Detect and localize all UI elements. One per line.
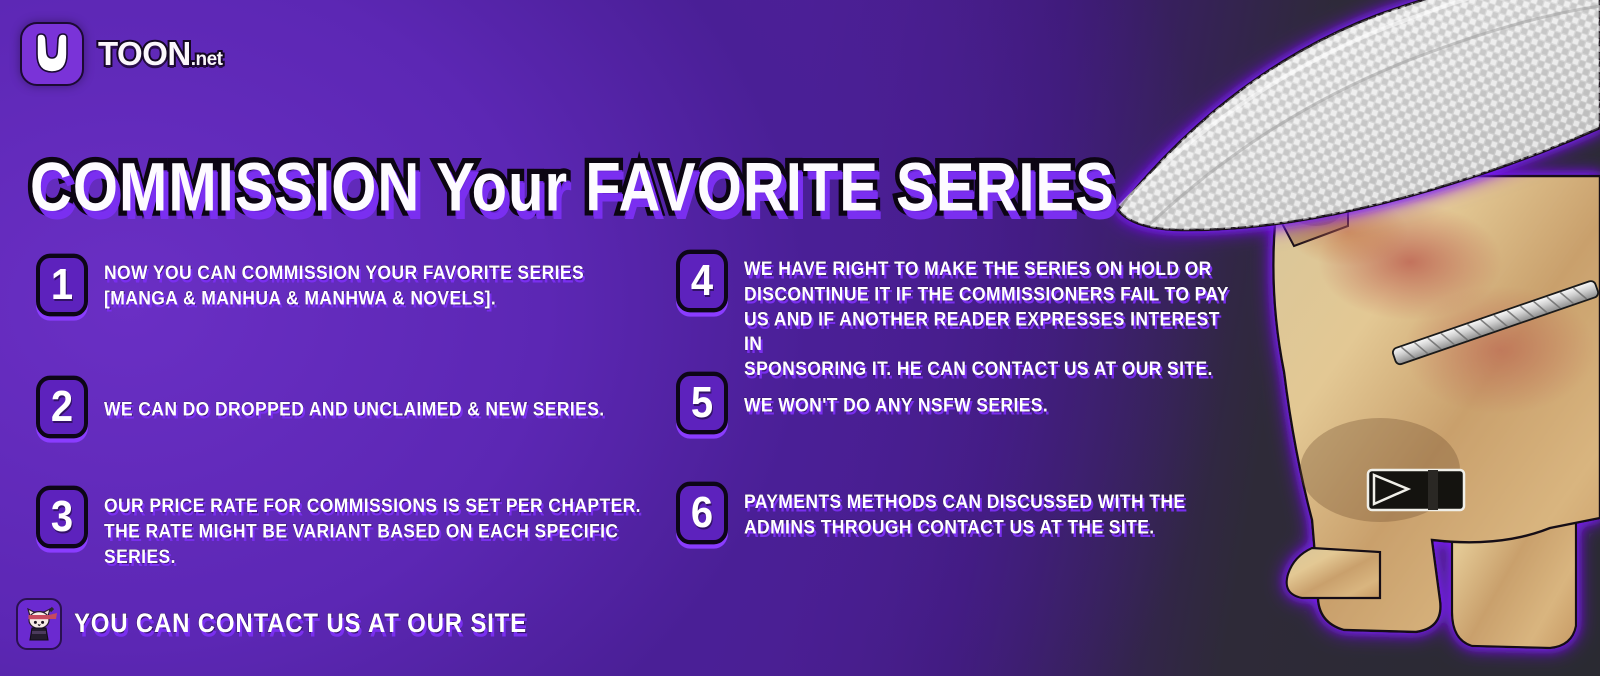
list-item: 2 WE CAN DO DROPPED AND UNCLAIMED & NEW … [36,378,605,436]
list-item: 4 WE HAVE RIGHT TO MAKE THE SERIES ON HO… [676,252,1236,370]
item-number-badge: 2 [36,376,88,439]
contact-footer[interactable]: YOU CAN CONTACT US AT OUR SITE [16,598,527,650]
list-item: 1 NOW YOU CAN COMMISSION YOUR FAVORITE S… [36,256,584,314]
logo-tld: .net [191,49,223,70]
commission-rules-list: 1 NOW YOU CAN COMMISSION YOUR FAVORITE S… [0,252,1240,582]
contact-footer-text: YOU CAN CONTACT US AT OUR SITE [74,608,527,639]
item-number-badge: 5 [676,372,728,435]
item-text: OUR PRICE RATE FOR COMMISSIONS IS SET PE… [104,488,676,569]
site-logo[interactable]: TOON.net [20,22,223,86]
page-title: COMMISSION Your FAVORITE SERIES [30,148,1115,227]
item-text: WE HAVE RIGHT TO MAKE THE SERIES ON HOLD… [744,252,1236,382]
list-item: 5 WE WON'T DO ANY NSFW SERIES. [676,374,1048,432]
item-number-badge: 6 [676,482,728,545]
item-text: WE CAN DO DROPPED AND UNCLAIMED & NEW SE… [104,378,605,422]
list-item: 3 OUR PRICE RATE FOR COMMISSIONS IS SET … [36,488,676,561]
ninja-cat-avatar-icon [16,598,62,650]
item-number-badge: 1 [36,254,88,317]
item-text: WE WON'T DO ANY NSFW SERIES. [744,374,1048,418]
item-text: NOW YOU CAN COMMISSION YOUR FAVORITE SER… [104,256,584,310]
item-number-badge: 3 [36,486,88,549]
logo-name: TOON [98,35,191,72]
list-item: 6 PAYMENTS METHODS CAN DISCUSSED WITH TH… [676,484,1185,542]
item-number-badge: 4 [676,250,728,313]
commission-banner: TOON.net COMMISSION Your FAVORITE SERIES… [0,0,1600,676]
toon-crescent-logo-icon [20,22,84,86]
item-text: PAYMENTS METHODS CAN DISCUSSED WITH THE … [744,484,1185,540]
site-logo-text: TOON.net [98,35,223,73]
